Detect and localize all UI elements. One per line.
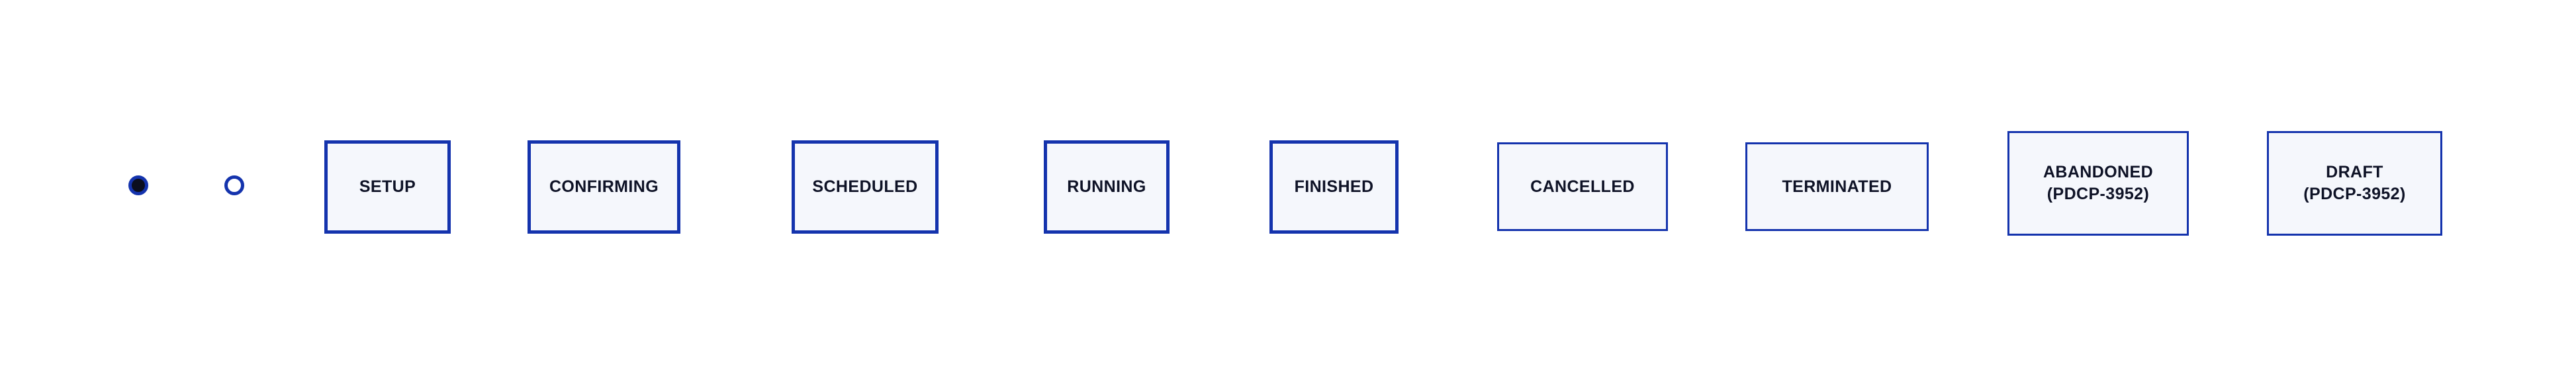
state-box-label-confirming: CONFIRMING	[549, 176, 659, 198]
state-box-finished[interactable]: FINISHED	[1269, 140, 1399, 234]
state-box-label-terminated: TERMINATED	[1782, 176, 1892, 198]
state-box-confirming[interactable]: CONFIRMING	[528, 140, 680, 234]
state-box-scheduled[interactable]: SCHEDULED	[792, 140, 939, 234]
state-box-label-scheduled: SCHEDULED	[812, 176, 917, 198]
state-box-label-running: RUNNING	[1067, 176, 1146, 198]
filled-state-marker-icon	[128, 175, 148, 195]
state-box-terminated[interactable]: TERMINATED	[1745, 142, 1929, 231]
state-box-draft[interactable]: DRAFT (PDCP-3952)	[2267, 131, 2442, 236]
state-legend-strip: SETUPCONFIRMINGSCHEDULEDRUNNINGFINISHEDC…	[0, 0, 2576, 376]
hollow-state-marker-icon	[224, 175, 244, 195]
state-box-label-abandoned: ABANDONED (PDCP-3952)	[2043, 162, 2153, 205]
state-box-label-draft: DRAFT (PDCP-3952)	[2303, 162, 2405, 205]
state-box-label-finished: FINISHED	[1295, 176, 1374, 198]
state-box-label-setup: SETUP	[359, 176, 416, 198]
state-box-abandoned[interactable]: ABANDONED (PDCP-3952)	[2007, 131, 2189, 236]
state-box-cancelled[interactable]: CANCELLED	[1497, 142, 1668, 231]
state-box-label-cancelled: CANCELLED	[1530, 176, 1635, 198]
state-box-running[interactable]: RUNNING	[1044, 140, 1170, 234]
state-box-setup[interactable]: SETUP	[324, 140, 451, 234]
